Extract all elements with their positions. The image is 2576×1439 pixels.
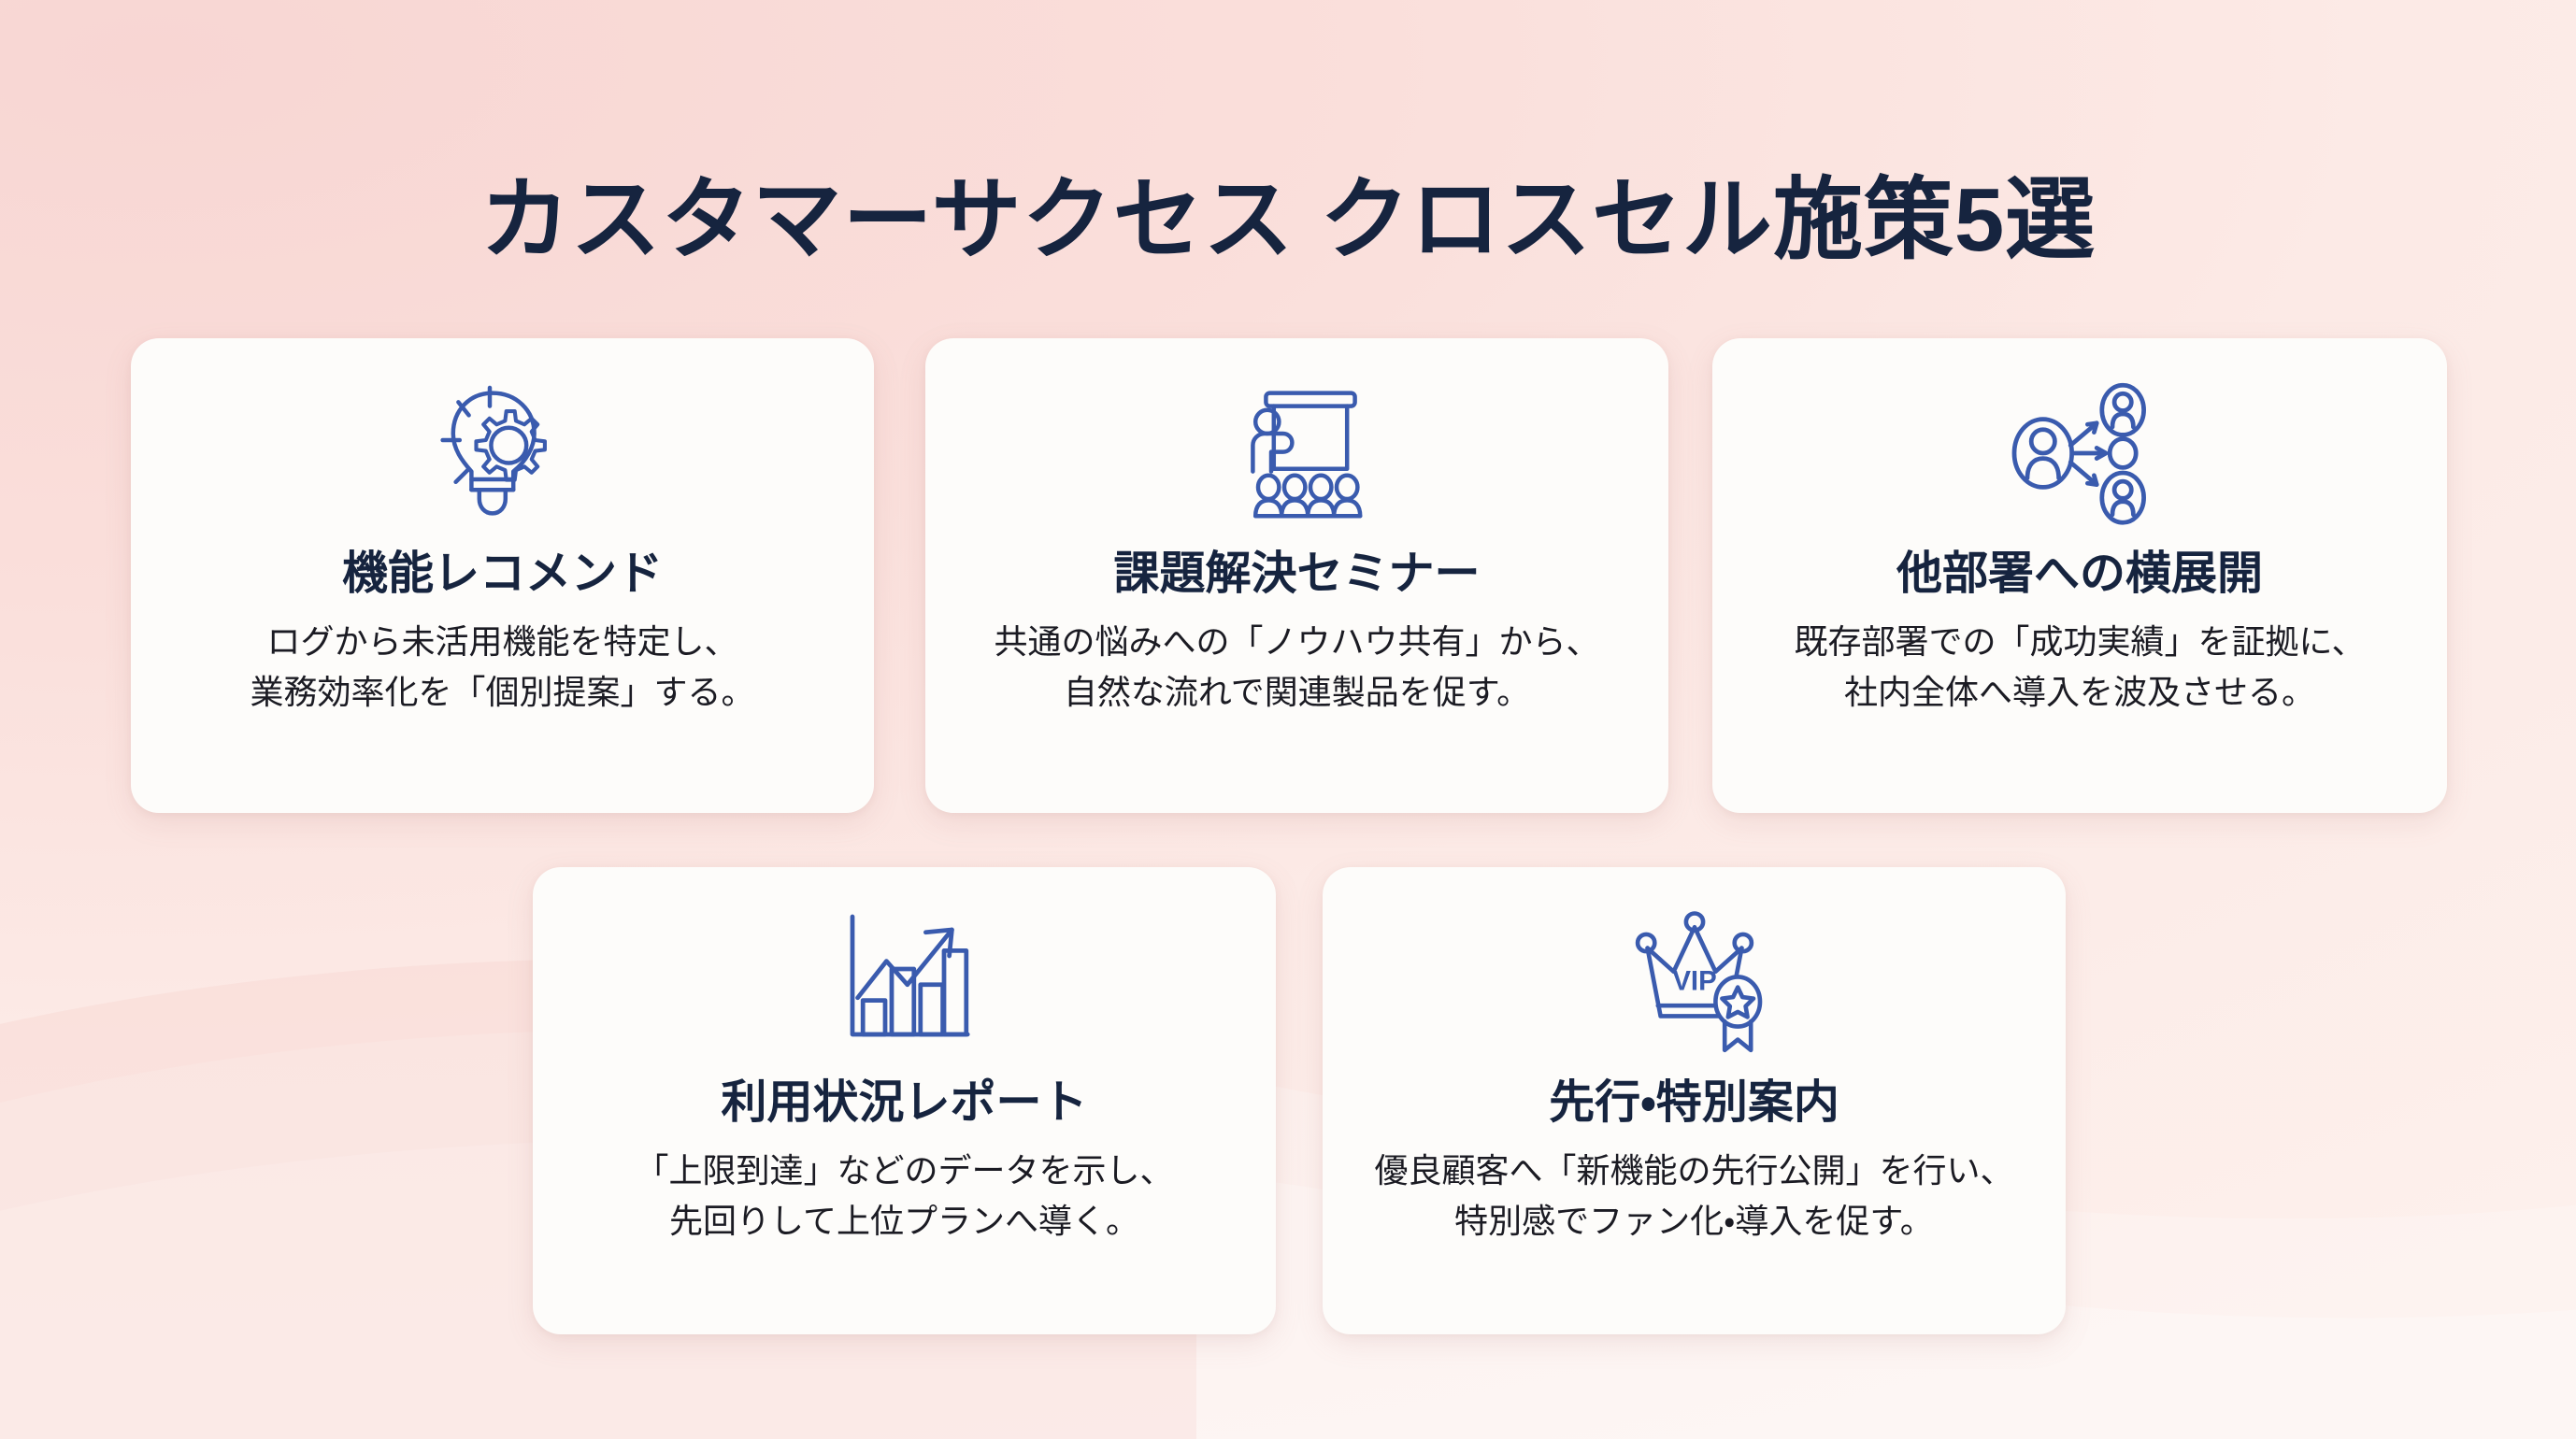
card-heading: 先行・特別案内 [1549,1076,1839,1131]
page-title: カスタマーサクセス クロスセル施策5選 [0,170,2576,271]
card-heading: 他部署への横展開 [1896,548,2263,602]
card-description-line: ログから未活用機能を特定し、 [250,617,754,667]
card-description: 「上限到達」などのデータを示し、 先回りして上位プランへ導く。 [610,1146,1197,1247]
vip-crown-badge-icon: VIP [1616,903,1773,1061]
vip-label: VIP [1672,965,1716,996]
card-description-line: 先回りして上位プランへ導く。 [635,1196,1173,1247]
card-description: ログから未活用機能を特定し、 業務効率化を「個別提案」する。 [225,617,779,718]
card-usage-report[interactable]: 利用状況レポート 「上限到達」などのデータを示し、 先回りして上位プランへ導く。 [533,867,1276,1334]
card-description: 共通の悩みへの「ノウハウ共有」から、 自然な流れで関連製品を促す。 [969,617,1624,718]
card-problem-solving-seminar[interactable]: 課題解決セミナー 共通の悩みへの「ノウハウ共有」から、 自然な流れで関連製品を促… [925,338,1668,813]
card-feature-recommend[interactable]: 機能レコメンド ログから未活用機能を特定し、 業務効率化を「個別提案」する。 [131,338,874,813]
card-early-special-invitation[interactable]: VIP 先行・特別案内 優良顧客へ「新機能の先行公開」を行い、 特別感でファン化… [1323,867,2066,1334]
card-heading: 利用状況レポート [721,1076,1087,1131]
card-description-line: 「上限到達」などのデータを示し、 [635,1146,1173,1196]
card-description-line: 既存部署での「成功実績」を証拠に、 [1795,617,2366,667]
card-description-line: 自然な流れで関連製品を促す。 [994,667,1599,718]
lightbulb-gear-icon [424,374,581,533]
card-description: 既存部署での「成功実績」を証拠に、 社内全体へ導入を波及させる。 [1770,617,2390,718]
card-description-line: 優良顧客へ「新機能の先行公開」を行い、 [1374,1146,2013,1196]
card-heading: 機能レコメンド [342,548,663,602]
network-share-people-icon [2001,374,2158,533]
card-cross-department-rollout[interactable]: 他部署への横展開 既存部署での「成功実績」を証拠に、 社内全体へ導入を波及させる… [1712,338,2447,813]
card-description-line: 業務効率化を「個別提案」する。 [250,667,754,718]
card-description-line: 共通の悩みへの「ノウハウ共有」から、 [994,617,1599,667]
slide-canvas: カスタマーサクセス クロスセル施策5選 機能レコメンド ログから未活用機能 [0,0,2576,1439]
seminar-presentation-icon [1219,374,1376,533]
card-heading: 課題解決セミナー [1113,548,1480,602]
card-description-line: 特別感でファン化・導入を促す。 [1374,1196,2013,1247]
card-description-line: 社内全体へ導入を波及させる。 [1795,667,2366,718]
bar-chart-growth-arrow-icon [826,903,983,1061]
card-description: 優良顧客へ「新機能の先行公開」を行い、 特別感でファン化・導入を促す。 [1350,1146,2038,1247]
